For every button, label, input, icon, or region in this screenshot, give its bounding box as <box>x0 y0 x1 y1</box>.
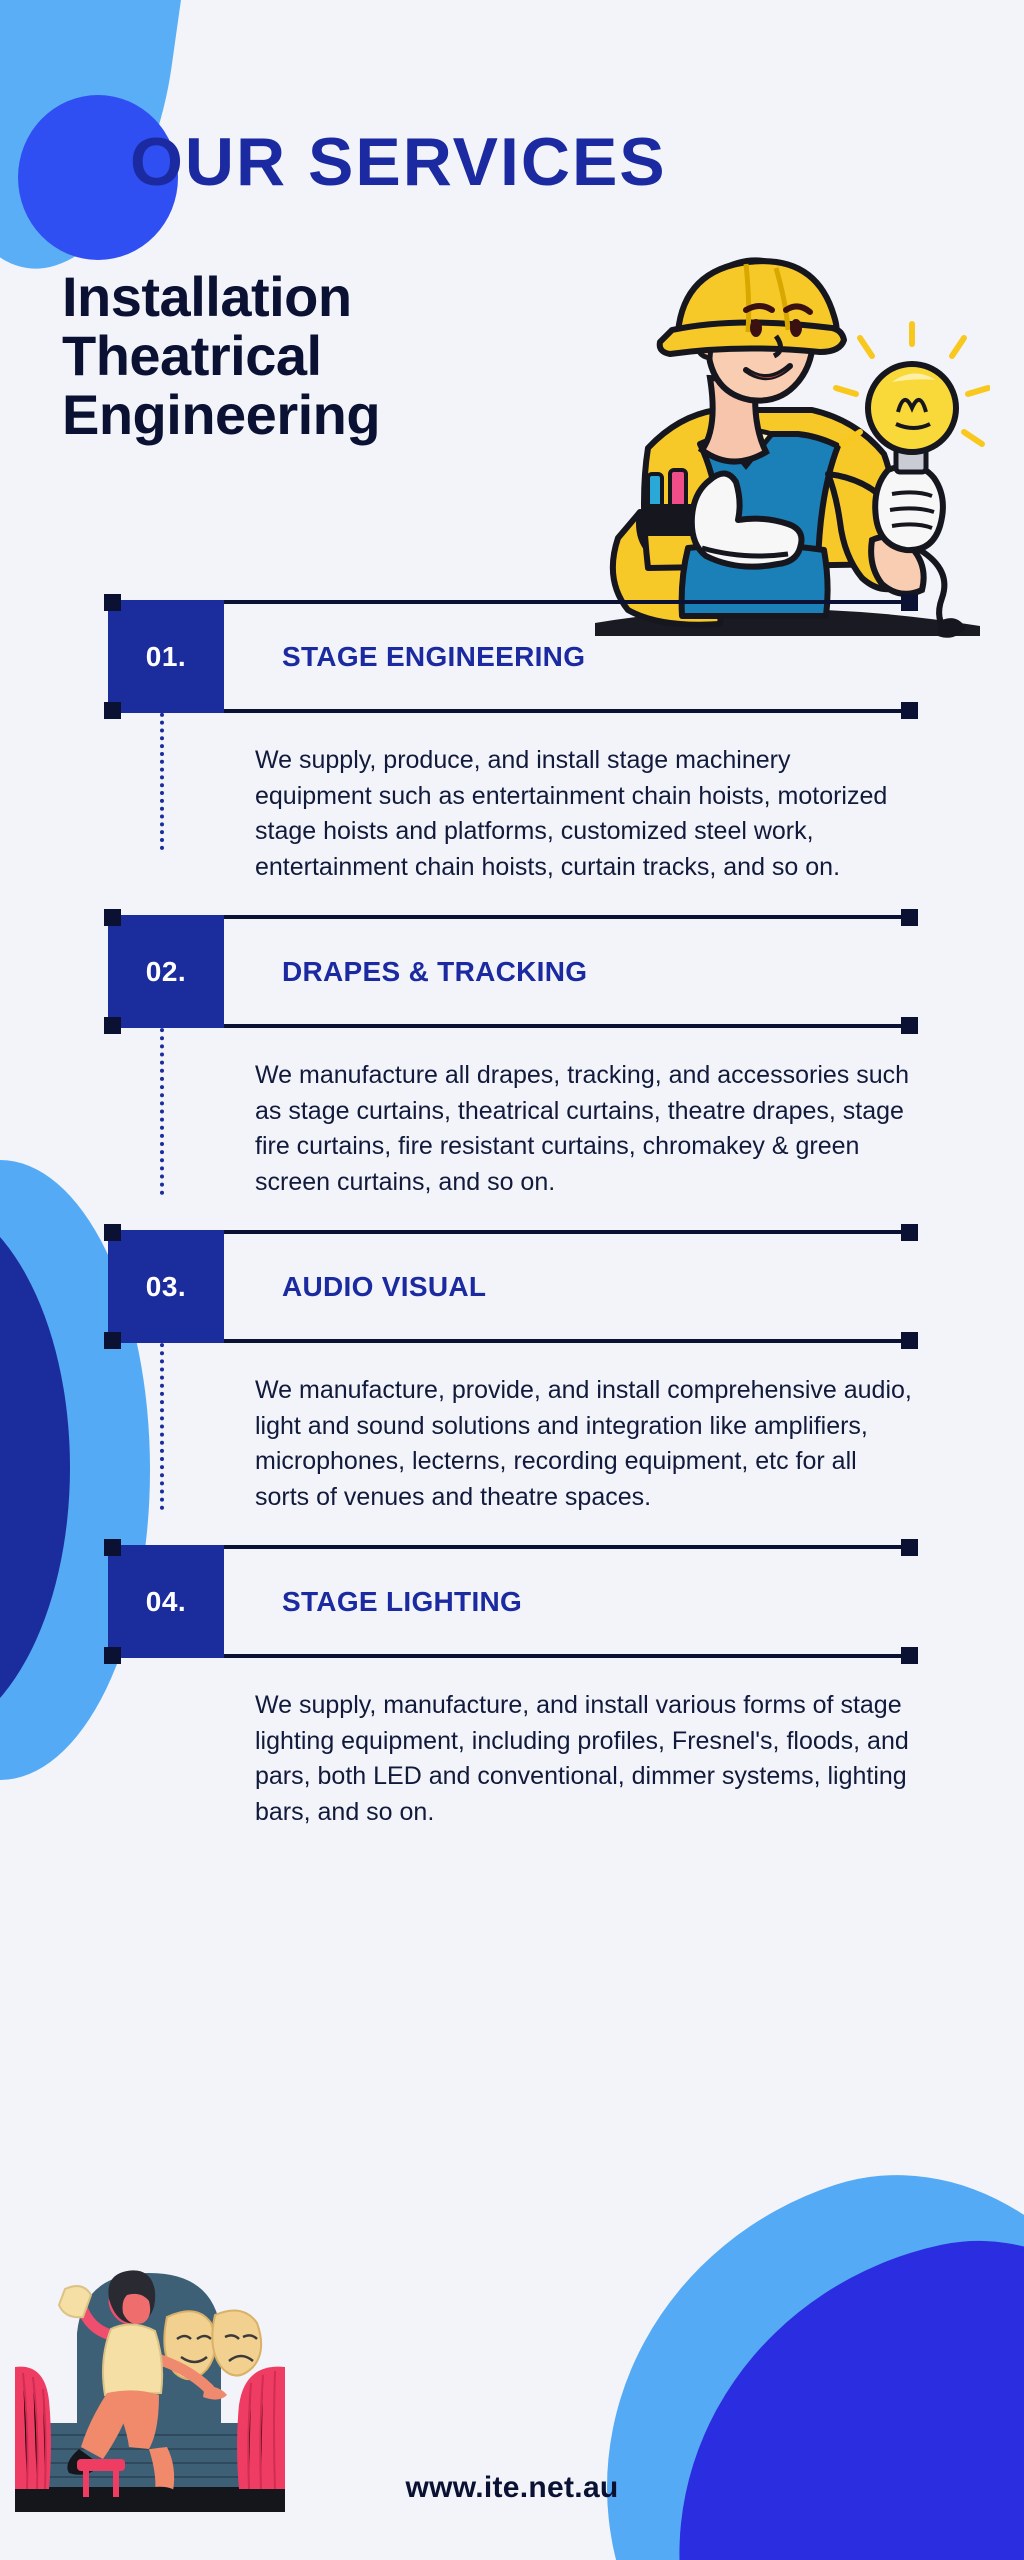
bar-cap-top-left-icon <box>104 1539 121 1556</box>
service-item[interactable]: 02. DRAPES & TRACKING We manufacture all… <box>0 915 1024 1230</box>
bar-cap-bottom-left-icon <box>104 1017 121 1034</box>
blob-bottom-right-dark-icon <box>622 2199 1024 2560</box>
page-title: OUR SERVICES <box>130 128 667 196</box>
bar-cap-top-right-icon <box>901 909 918 926</box>
construction-worker-illustration <box>560 248 990 638</box>
bar-cap-bottom-right-icon <box>901 1647 918 1664</box>
bar-cap-bottom-right-icon <box>901 1017 918 1034</box>
bar-cap-top-left-icon <box>104 1224 121 1241</box>
bar-cap-bottom-left-icon <box>104 1647 121 1664</box>
service-item[interactable]: 04. STAGE LIGHTING We supply, manufactur… <box>0 1545 1024 1860</box>
connector-dotted-line <box>160 1020 164 1195</box>
bar-cap-top-right-icon <box>901 1224 918 1241</box>
subtitle-line-2: Theatrical <box>62 327 380 386</box>
service-item[interactable]: 01. STAGE ENGINEERING We supply, produce… <box>0 600 1024 915</box>
bar-cap-top-left-icon <box>104 594 121 611</box>
service-bar: 03. AUDIO VISUAL <box>108 1230 914 1343</box>
service-title: DRAPES & TRACKING <box>224 919 914 1024</box>
bar-cap-bottom-left-icon <box>104 702 121 719</box>
bar-cap-bottom-left-icon <box>104 1332 121 1349</box>
service-title: STAGE LIGHTING <box>224 1549 914 1654</box>
bar-cap-top-right-icon <box>901 594 918 611</box>
service-description: We supply, manufacture, and install vari… <box>255 1688 914 1860</box>
subtitle-line-1: Installation <box>62 268 380 327</box>
service-title: STAGE ENGINEERING <box>224 604 914 709</box>
service-number: 04. <box>108 1545 224 1658</box>
service-title: AUDIO VISUAL <box>224 1234 914 1339</box>
service-bar: 04. STAGE LIGHTING <box>108 1545 914 1658</box>
page-subtitle: Installation Theatrical Engineering <box>62 268 380 444</box>
service-description: We supply, produce, and install stage ma… <box>255 743 914 915</box>
connector-dotted-line <box>160 1335 164 1510</box>
service-number: 02. <box>108 915 224 1028</box>
bar-cap-top-right-icon <box>901 1539 918 1556</box>
subtitle-line-3: Engineering <box>62 386 380 445</box>
service-description: We manufacture all drapes, tracking, and… <box>255 1058 914 1230</box>
service-description: We manufacture, provide, and install com… <box>255 1373 914 1545</box>
service-bar: 01. STAGE ENGINEERING <box>108 600 914 713</box>
website-url[interactable]: www.ite.net.au <box>0 2471 1024 2505</box>
bar-cap-bottom-right-icon <box>901 702 918 719</box>
service-bar: 02. DRAPES & TRACKING <box>108 915 914 1028</box>
connector-dotted-line <box>160 705 164 850</box>
service-item[interactable]: 03. AUDIO VISUAL We manufacture, provide… <box>0 1230 1024 1545</box>
services-list: 01. STAGE ENGINEERING We supply, produce… <box>0 600 1024 1860</box>
bar-cap-top-left-icon <box>104 909 121 926</box>
service-number: 03. <box>108 1230 224 1343</box>
bar-cap-bottom-right-icon <box>901 1332 918 1349</box>
service-number: 01. <box>108 600 224 713</box>
